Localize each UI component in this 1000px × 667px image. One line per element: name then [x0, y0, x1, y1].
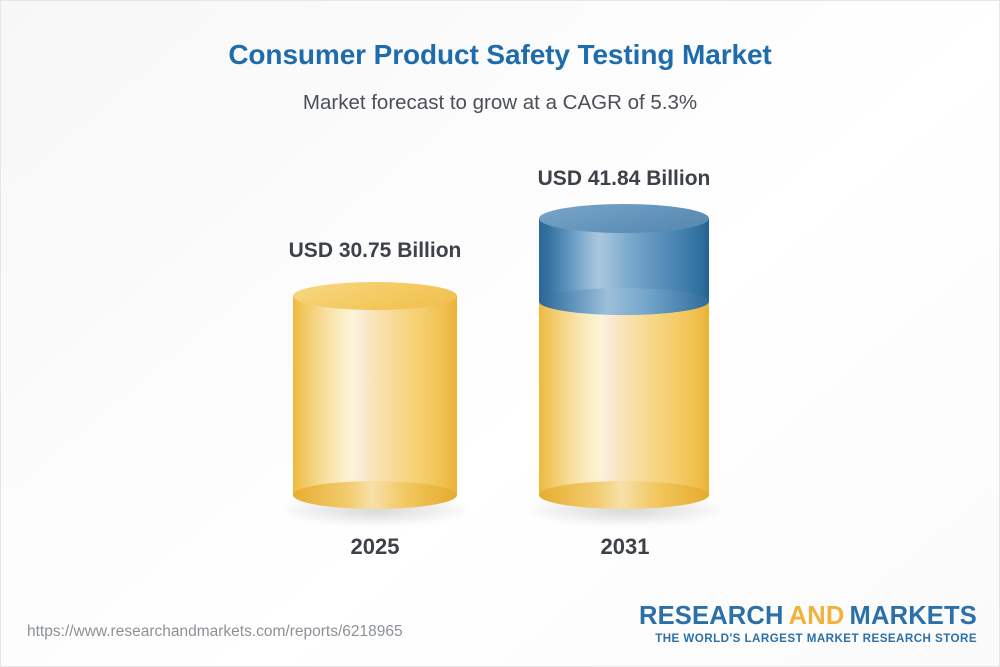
bar-segment-base-2031	[539, 296, 709, 496]
source-url[interactable]: https://www.researchandmarkets.com/repor…	[27, 623, 403, 641]
brand-name: RESEARCHANDMARKETS	[639, 603, 977, 630]
brand-word-markets: MARKETS	[850, 602, 977, 630]
bar-top-cap-2025	[293, 282, 457, 310]
infographic-canvas: Consumer Product Safety Testing Market M…	[0, 0, 1000, 667]
bar-chart-plot-area: USD 30.75 Billion USD 41.84 Billion 2025…	[1, 1, 1000, 667]
bar-top-cap-2031	[539, 204, 709, 233]
brand-word-research: RESEARCH	[639, 602, 784, 630]
bar-value-label-2025: USD 30.75 Billion	[275, 239, 475, 263]
axis-category-label-2031: 2031	[525, 534, 725, 560]
bar-bottom-cap-2025	[293, 481, 457, 509]
brand-logo[interactable]: RESEARCHANDMARKETS THE WORLD'S LARGEST M…	[639, 603, 977, 645]
bar-segment-divider-2031	[539, 288, 709, 315]
bar-cylinder-2025[interactable]	[293, 282, 457, 509]
brand-tagline: THE WORLD'S LARGEST MARKET RESEARCH STOR…	[639, 632, 977, 645]
axis-category-label-2025: 2025	[275, 534, 475, 560]
bar-value-label-2031: USD 41.84 Billion	[524, 167, 724, 191]
brand-word-and: AND	[789, 602, 845, 630]
bar-cylinder-2031[interactable]	[539, 204, 709, 509]
bar-bottom-cap-2031	[539, 481, 709, 509]
bar-segment-base-2025	[293, 296, 457, 496]
